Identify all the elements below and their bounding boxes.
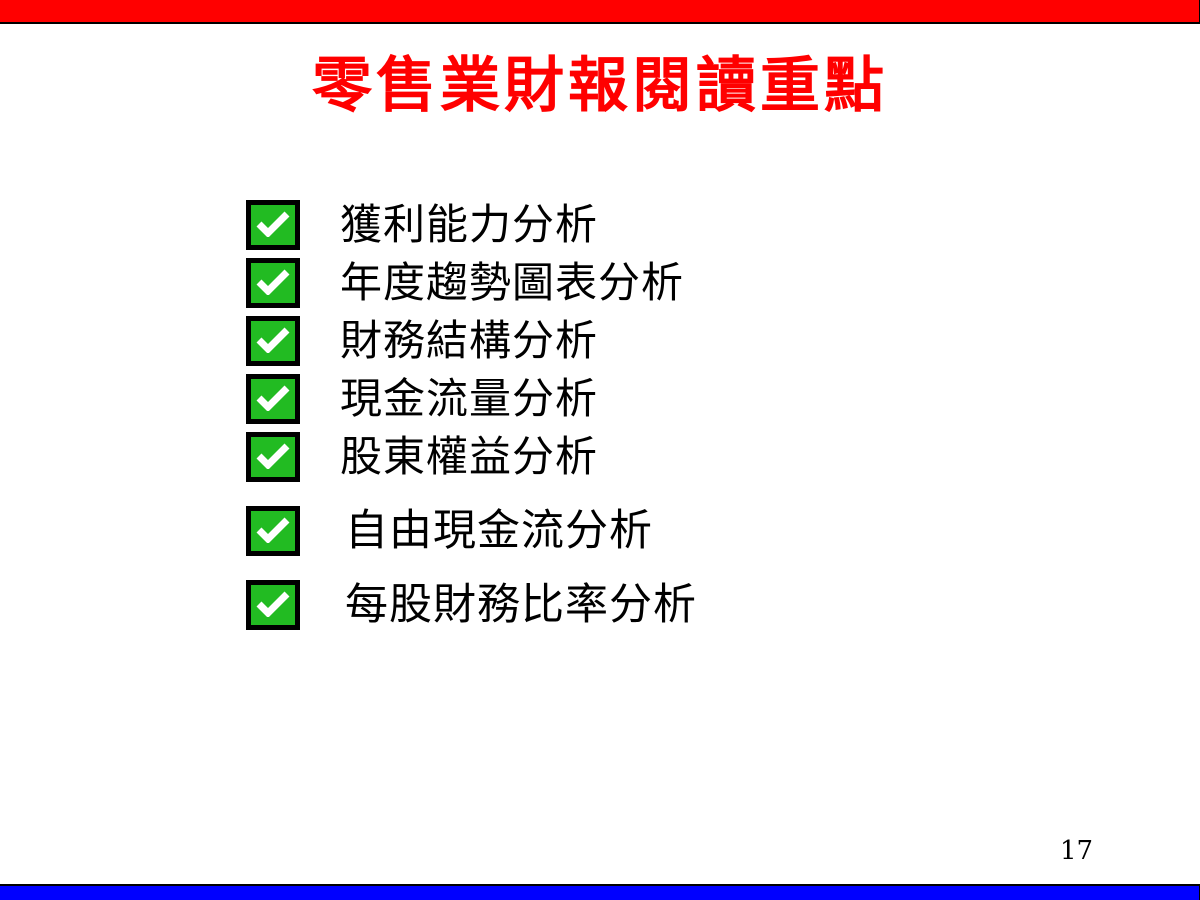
- checkbox-checked[interactable]: [246, 506, 300, 556]
- check-icon: [256, 443, 290, 469]
- list-item-label: 年度趨勢圖表分析: [300, 262, 684, 304]
- list-item-label: 獲利能力分析: [300, 204, 598, 246]
- top-accent-bar: [0, 0, 1200, 24]
- checkbox-checked[interactable]: [246, 580, 300, 630]
- check-icon: [256, 517, 290, 543]
- list-item[interactable]: 現金流量分析: [246, 370, 1006, 428]
- check-icon: [256, 269, 290, 295]
- list-item-label: 每股財務比率分析: [300, 584, 697, 627]
- list-item[interactable]: 股東權益分析: [246, 428, 1006, 486]
- check-icon: [256, 327, 290, 353]
- page-number: 17: [1060, 836, 1120, 866]
- checklist: 獲利能力分析 年度趨勢圖表分析 財務結構分析 現金流量分析: [246, 196, 1006, 634]
- check-icon: [256, 211, 290, 237]
- list-item[interactable]: 獲利能力分析: [246, 196, 1006, 254]
- list-item[interactable]: 每股財務比率分析: [246, 576, 1006, 634]
- list-item[interactable]: 自由現金流分析: [246, 502, 1006, 560]
- list-item-label: 現金流量分析: [300, 378, 598, 420]
- check-icon: [256, 591, 290, 617]
- checkbox-checked[interactable]: [246, 200, 300, 250]
- list-item-label: 自由現金流分析: [300, 510, 653, 553]
- checkbox-checked[interactable]: [246, 258, 300, 308]
- checkbox-checked[interactable]: [246, 316, 300, 366]
- page-title: 零售業財報閱讀重點: [0, 54, 1200, 119]
- checkbox-checked[interactable]: [246, 432, 300, 482]
- list-item[interactable]: 年度趨勢圖表分析: [246, 254, 1006, 312]
- list-item[interactable]: 財務結構分析: [246, 312, 1006, 370]
- check-icon: [256, 385, 290, 411]
- list-item-label: 股東權益分析: [300, 436, 598, 478]
- list-item-label: 財務結構分析: [300, 320, 598, 362]
- checkbox-checked[interactable]: [246, 374, 300, 424]
- bottom-accent-bar: [0, 884, 1200, 900]
